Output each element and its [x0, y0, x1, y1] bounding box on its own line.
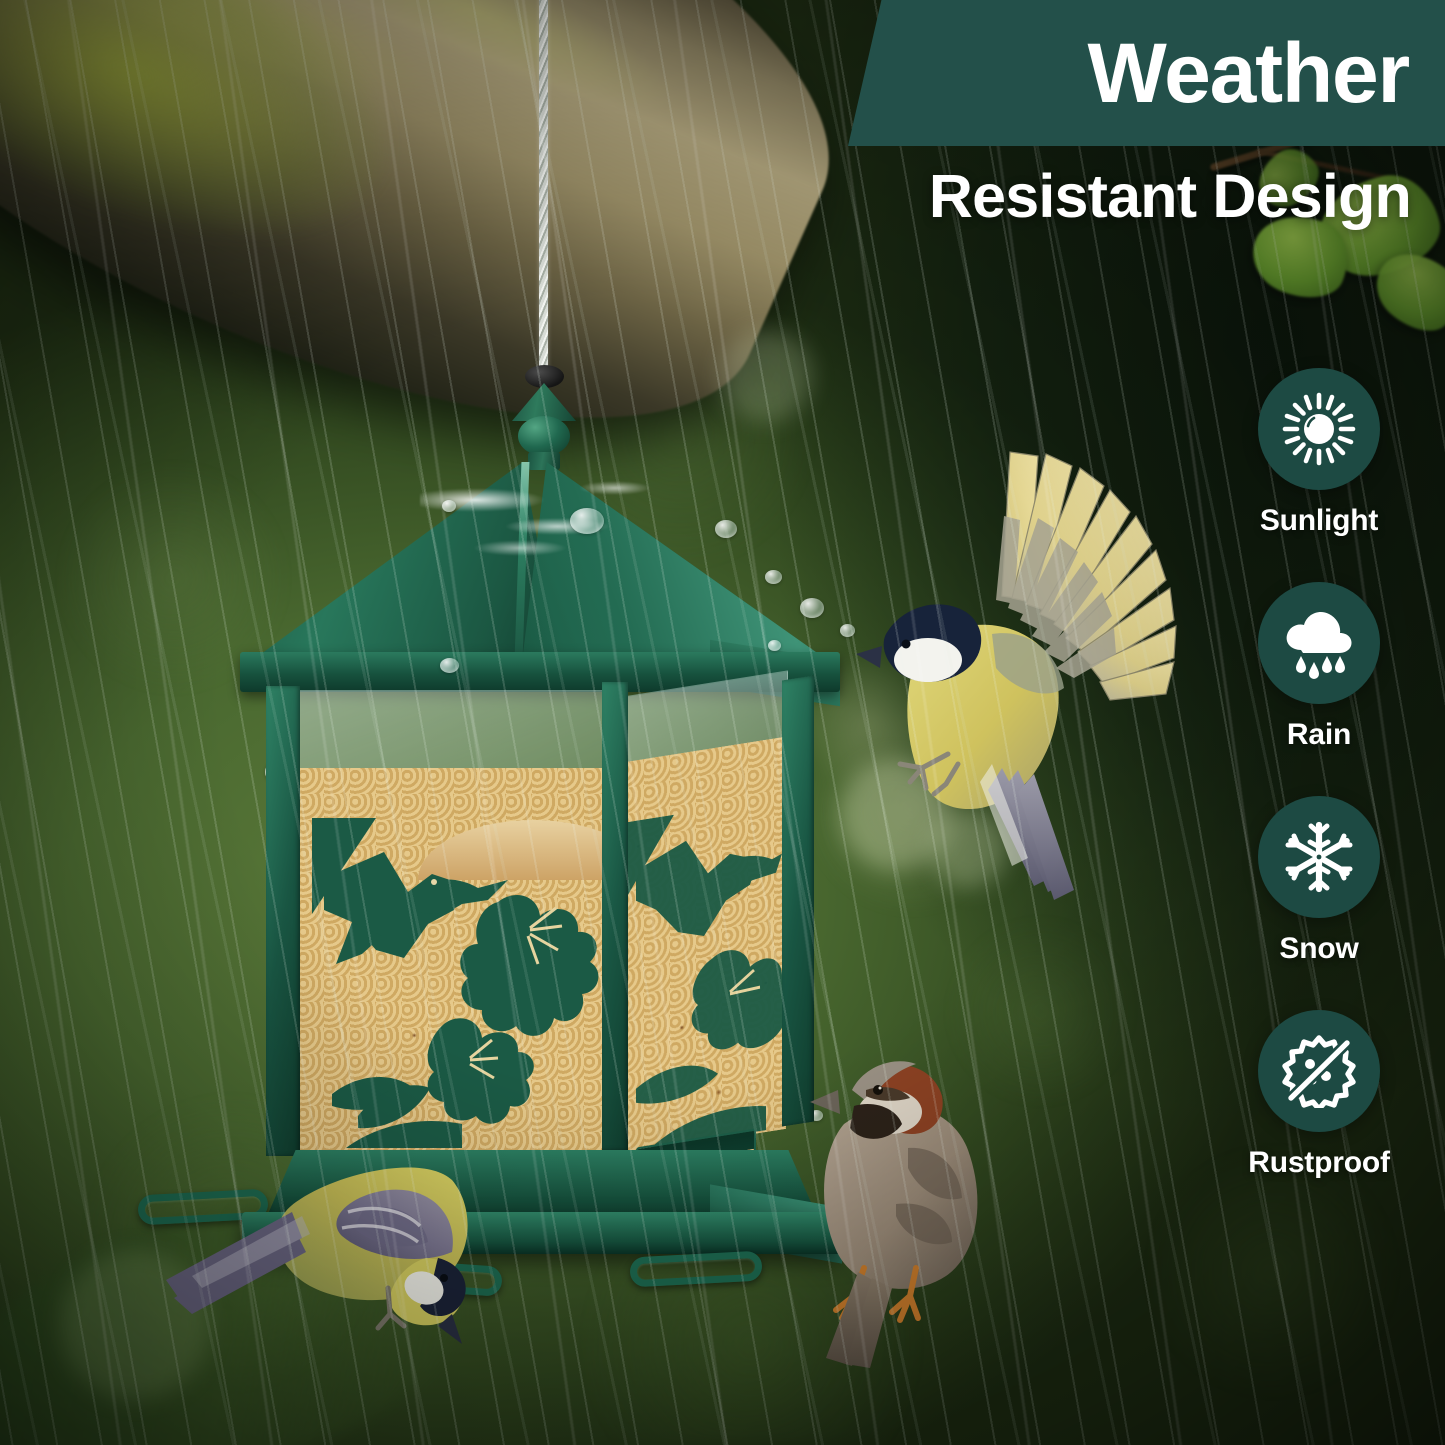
feeder-body: [266, 690, 814, 1190]
water-droplet: [765, 570, 782, 584]
feature-item-sunlight[interactable]: Sunlight: [1258, 368, 1380, 538]
water-droplet: [715, 520, 737, 538]
hummingbird-flower-cutout-front: [312, 818, 612, 1148]
feature-label: Rustproof: [1248, 1146, 1390, 1180]
feature-list: Sunlight Rain: [1219, 368, 1419, 1180]
bird-feeder-product: [150, 0, 870, 1360]
frame-post-mid: [602, 682, 628, 1150]
water-droplet: [570, 508, 604, 534]
feature-item-rustproof[interactable]: Rustproof: [1248, 1010, 1390, 1180]
feature-item-rain[interactable]: Rain: [1258, 582, 1380, 752]
water-droplet: [768, 640, 781, 651]
feature-label: Rain: [1287, 718, 1351, 752]
rain-cloud-icon: [1281, 606, 1357, 680]
hanging-cable: [539, 0, 548, 374]
feature-icon-badge: [1258, 582, 1380, 704]
headline-banner: Weather: [848, 0, 1445, 146]
headline-subtitle: Resistant Design: [929, 166, 1411, 227]
feature-icon-badge: [1258, 796, 1380, 918]
perch-ring-front-right: [629, 1251, 762, 1288]
snowflake-icon: [1283, 821, 1355, 893]
feature-icon-badge: [1258, 1010, 1380, 1132]
water-droplet: [840, 624, 855, 637]
rustproof-icon: [1282, 1034, 1356, 1108]
sun-icon: [1282, 392, 1356, 466]
great-tit-in-flight: [862, 438, 1202, 908]
water-splash: [420, 452, 670, 572]
feature-label: Sunlight: [1260, 504, 1378, 538]
frame-post-left: [266, 686, 300, 1156]
house-sparrow-perched: [792, 1028, 1062, 1368]
page-title: Weather: [1088, 31, 1410, 115]
blue-tit-feeding: [152, 1168, 502, 1398]
hummingbird-flower-cutout-side: [626, 798, 782, 1153]
water-droplet: [442, 500, 456, 512]
feature-label: Snow: [1279, 932, 1358, 966]
finial-ball: [518, 416, 570, 456]
feature-icon-badge: [1258, 368, 1380, 490]
feature-item-snow[interactable]: Snow: [1258, 796, 1380, 966]
water-droplet: [440, 658, 459, 673]
product-marketing-image: Weather Resistant Design: [0, 0, 1445, 1445]
water-droplet: [800, 598, 824, 618]
